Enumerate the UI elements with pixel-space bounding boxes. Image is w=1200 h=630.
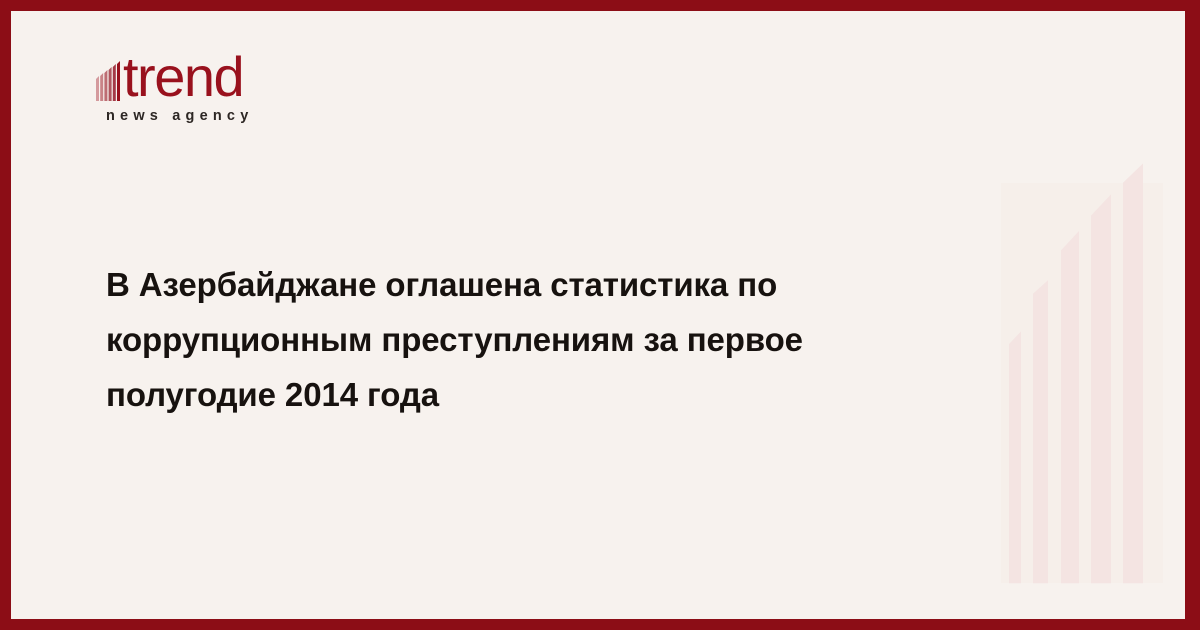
ascending-bar-chart-watermark [991, 11, 1171, 619]
card-content-area: trend news agency В Азербайджане оглашен… [11, 11, 1185, 619]
watermark-bar-2 [1033, 280, 1048, 583]
headline-line-3: полугодие 2014 года [106, 367, 966, 422]
article-headline: В Азербайджане оглашена статистика по ко… [106, 257, 966, 422]
headline-line-1: В Азербайджане оглашена статистика по [106, 257, 966, 312]
watermark-bar-5 [1123, 163, 1143, 583]
share-card: trend news agency В Азербайджане оглашен… [0, 0, 1200, 630]
watermark-bar-3 [1061, 231, 1079, 583]
headline-line-2: коррупционным преступлениям за первое [106, 312, 966, 367]
watermark-bars-svg [991, 11, 1171, 619]
logo-tagline: news agency [106, 108, 356, 124]
watermark-panel [1001, 183, 1163, 583]
watermark-bar-4 [1091, 194, 1111, 583]
ascending-bars-mark-icon [96, 49, 122, 101]
logo-wordmark: trend [123, 51, 243, 103]
trend-logo[interactable]: trend news agency [96, 45, 356, 124]
logo-lockup-row: trend [96, 45, 356, 103]
watermark-bar-1 [1009, 331, 1021, 583]
